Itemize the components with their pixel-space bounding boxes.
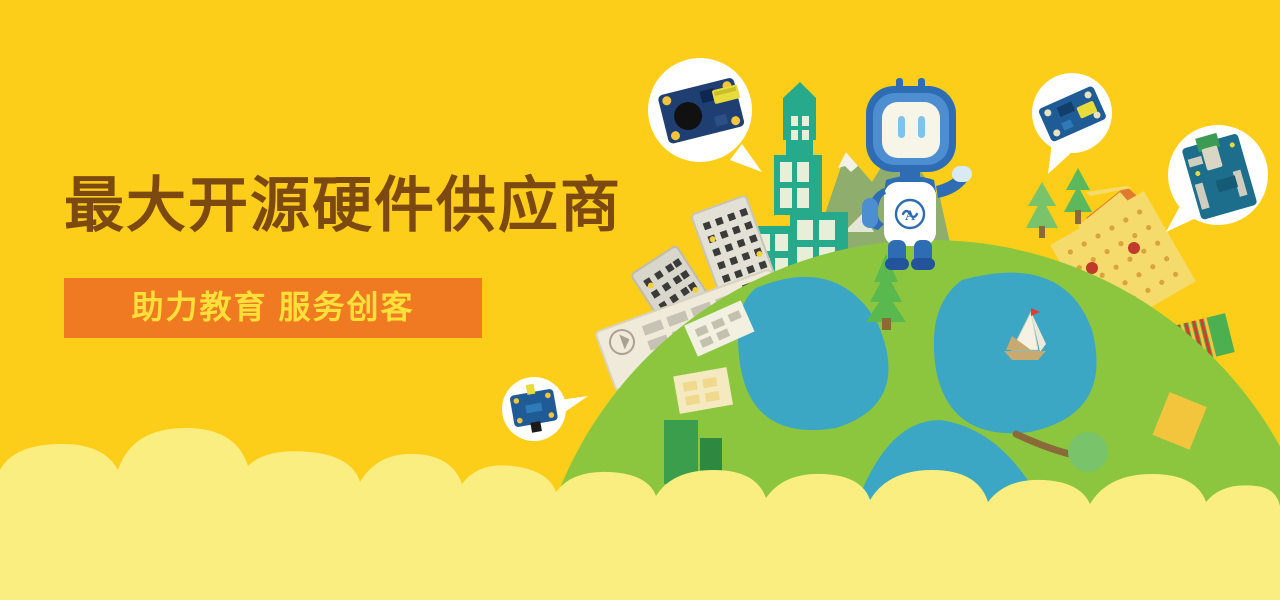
- robot-eye-right: [918, 116, 925, 138]
- robot-eye-left: [898, 116, 905, 138]
- text-block: 最大开源硬件供应商 助力教育 服务创客: [64, 176, 684, 338]
- page-title: 最大开源硬件供应商: [64, 176, 684, 236]
- tagline-text: 助力教育 服务创客: [132, 289, 415, 325]
- hero-banner: A: [0, 0, 1280, 600]
- robot-face-screen: [882, 102, 940, 158]
- svg-text:A: A: [905, 208, 916, 224]
- tagline-badge: 助力教育 服务创客: [64, 278, 482, 338]
